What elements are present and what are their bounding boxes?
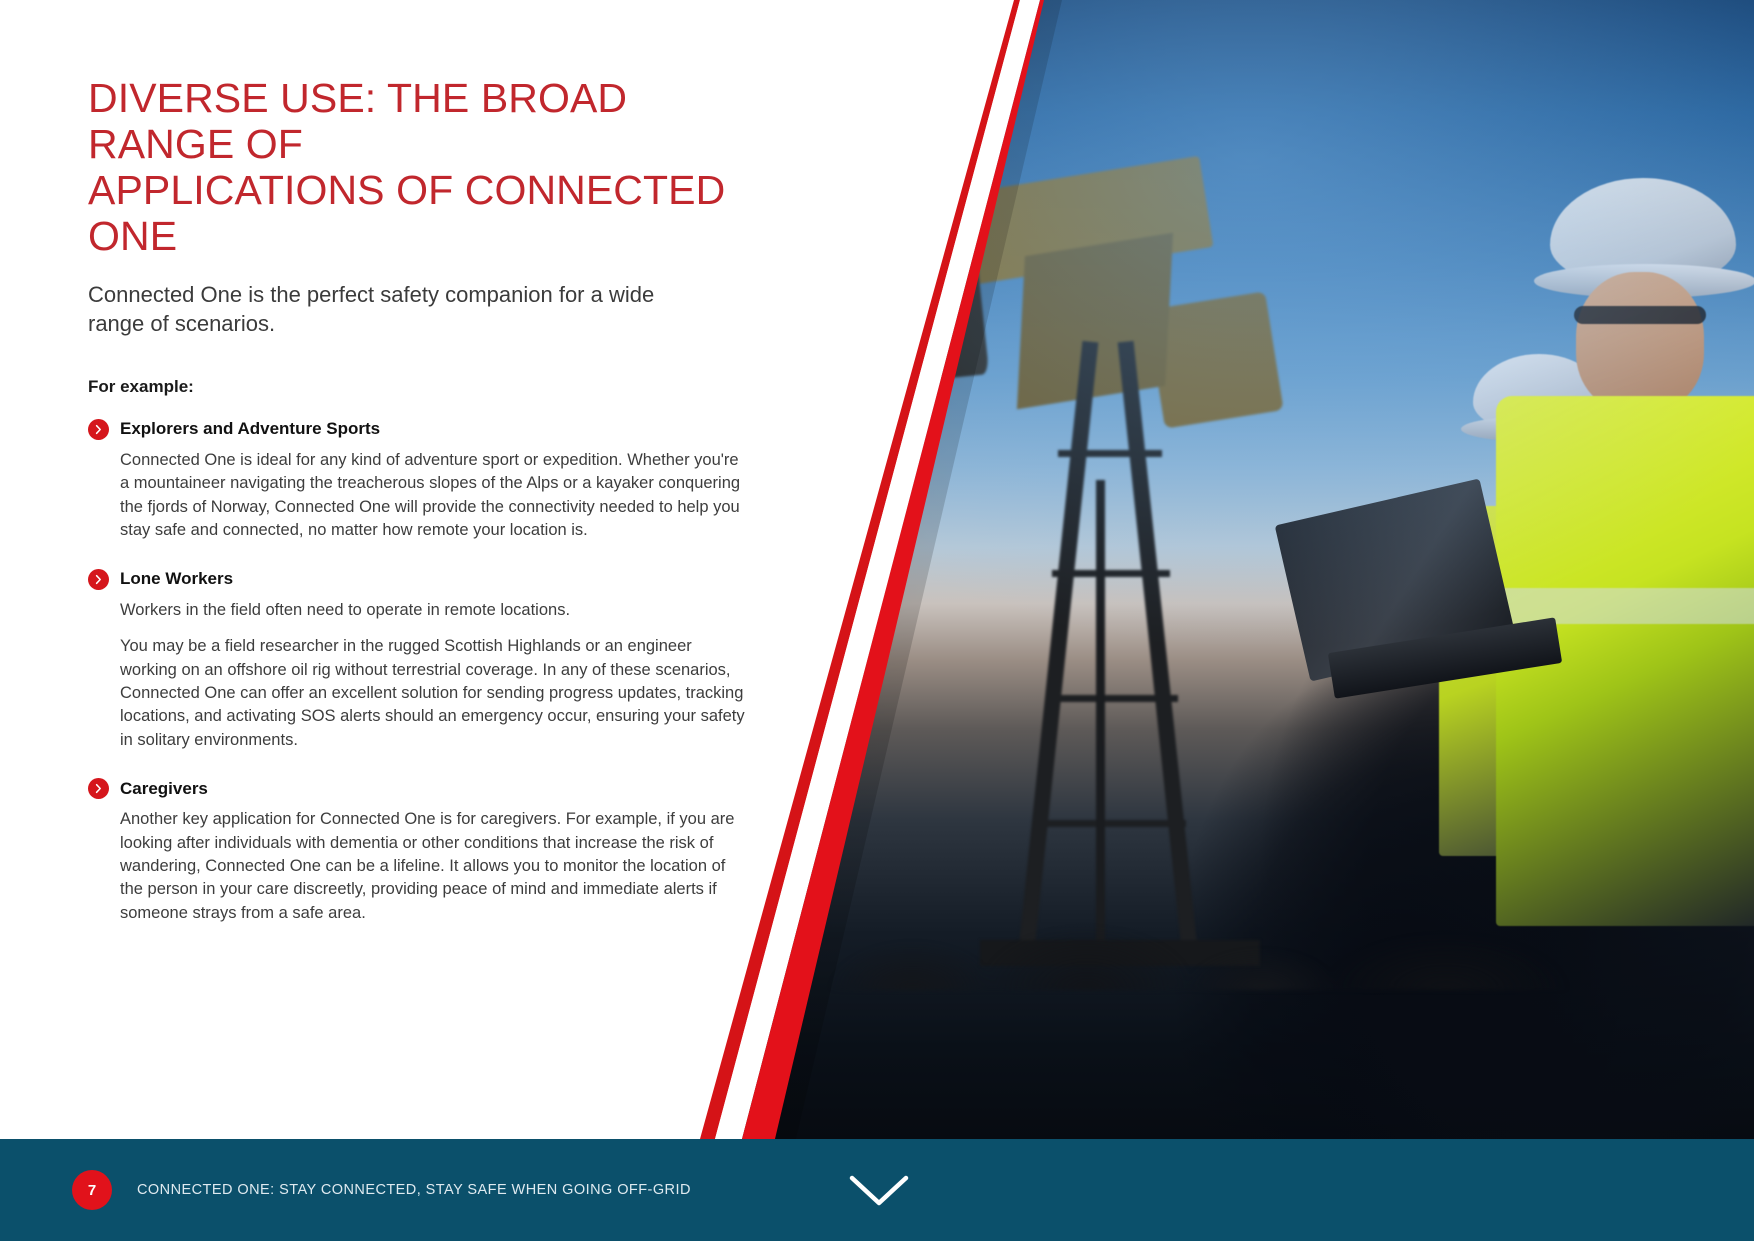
section-paragraph: You may be a field researcher in the rug… bbox=[120, 635, 748, 752]
page-number-badge: 7 bbox=[72, 1170, 112, 1210]
section-header: Explorers and Adventure Sports bbox=[88, 419, 748, 440]
section-title: Caregivers bbox=[120, 779, 208, 799]
section-paragraph: Workers in the field often need to opera… bbox=[120, 599, 748, 622]
intro-paragraph: Connected One is the perfect safety comp… bbox=[88, 280, 748, 339]
for-example-label: For example: bbox=[88, 377, 748, 397]
section-header: Lone Workers bbox=[88, 569, 748, 590]
chevron-right-circle-icon bbox=[88, 778, 109, 799]
slide-page: DIVERSE USE: THE BROAD RANGE OF APPLICAT… bbox=[0, 0, 1754, 1241]
section-title: Explorers and Adventure Sports bbox=[120, 419, 380, 439]
chevron-right-circle-icon bbox=[88, 569, 109, 590]
section-paragraph: Connected One is ideal for any kind of a… bbox=[120, 449, 748, 543]
section-body: Connected One is ideal for any kind of a… bbox=[88, 449, 748, 543]
chevron-right-circle-icon bbox=[88, 419, 109, 440]
chevron-down-icon[interactable] bbox=[846, 1170, 912, 1210]
page-title: DIVERSE USE: THE BROAD RANGE OF APPLICAT… bbox=[88, 76, 748, 260]
section-header: Caregivers bbox=[88, 778, 748, 799]
section-body: Another key application for Connected On… bbox=[88, 808, 748, 925]
section-explorers: Explorers and Adventure Sports Connected… bbox=[88, 419, 748, 543]
section-caregivers: Caregivers Another key application for C… bbox=[88, 778, 748, 925]
footer-bar: 7 CONNECTED ONE: STAY CONNECTED, STAY SA… bbox=[0, 1139, 1754, 1241]
section-title: Lone Workers bbox=[120, 569, 233, 589]
section-paragraph: Another key application for Connected On… bbox=[120, 808, 748, 925]
section-lone-workers: Lone Workers Workers in the field often … bbox=[88, 569, 748, 753]
content-column: DIVERSE USE: THE BROAD RANGE OF APPLICAT… bbox=[88, 76, 748, 951]
footer-caption: CONNECTED ONE: STAY CONNECTED, STAY SAFE… bbox=[137, 1182, 691, 1198]
section-body: Workers in the field often need to opera… bbox=[88, 599, 748, 753]
